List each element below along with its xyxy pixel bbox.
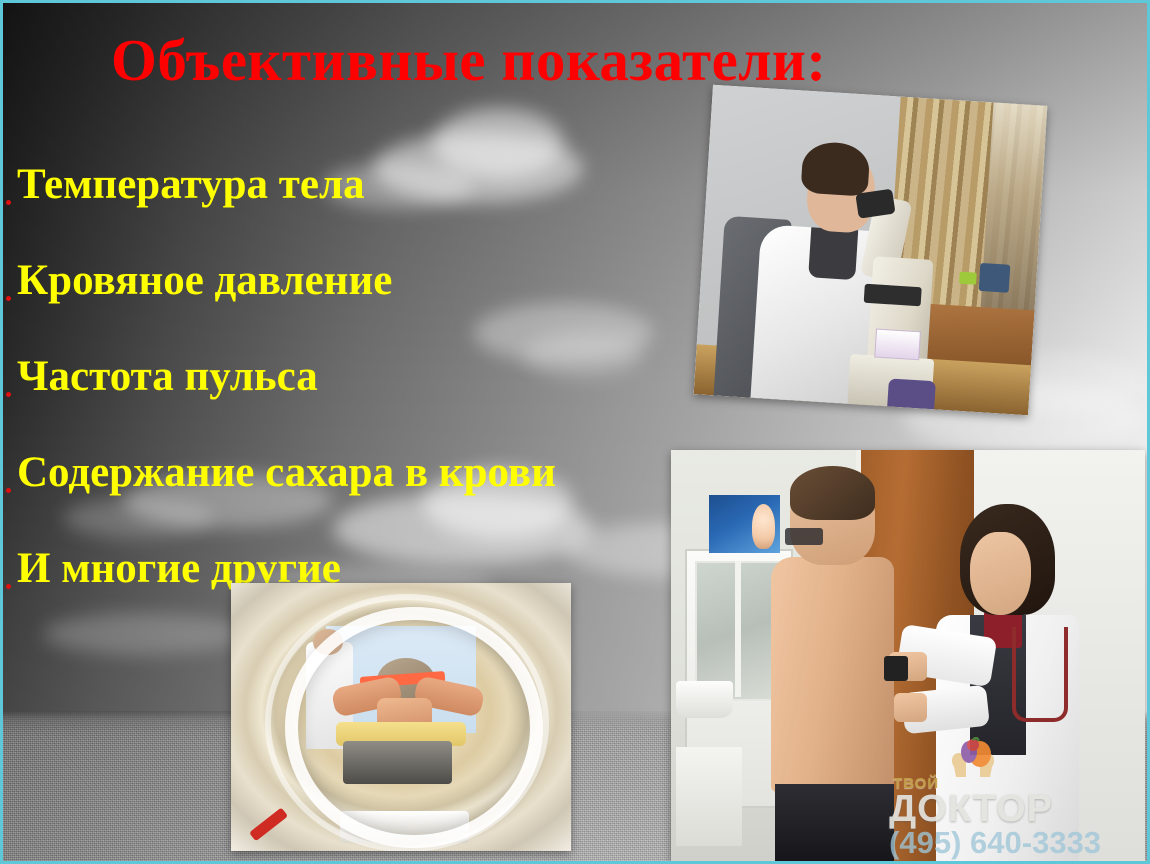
- photo-frame-examination: ТВОЙ ДОКТОР (495) 640-3333: [671, 450, 1145, 862]
- list-item: Кровяное давление: [3, 232, 683, 328]
- bullet-dot-icon: [6, 584, 11, 589]
- photo-frame-microscope: [694, 85, 1048, 415]
- bullet-dot-icon: [6, 488, 11, 493]
- objective-indicators-list: Температура тела Кровяное давление Часто…: [3, 136, 683, 616]
- list-item: Температура тела: [3, 136, 683, 232]
- bullet-dot-icon: [6, 200, 11, 205]
- list-item-label: Кровяное давление: [17, 259, 392, 302]
- slide-title: Объективные показатели:: [111, 29, 827, 93]
- photo-microscope: [694, 85, 1048, 415]
- list-item: Содержание сахара в крови: [3, 424, 683, 520]
- list-item: Частота пульса: [3, 328, 683, 424]
- photo-mri-scanner: [231, 583, 571, 851]
- list-item-label: Температура тела: [17, 163, 365, 206]
- presentation-slide: Объективные показатели: Температура тела…: [0, 0, 1150, 864]
- list-item-label: Содержание сахара в крови: [17, 451, 556, 494]
- bullet-dot-icon: [6, 296, 11, 301]
- photo-frame-mri-scanner: [231, 583, 571, 851]
- photo-examination: ТВОЙ ДОКТОР (495) 640-3333: [671, 450, 1145, 862]
- list-item-label: Частота пульса: [17, 355, 318, 398]
- bullet-dot-icon: [6, 392, 11, 397]
